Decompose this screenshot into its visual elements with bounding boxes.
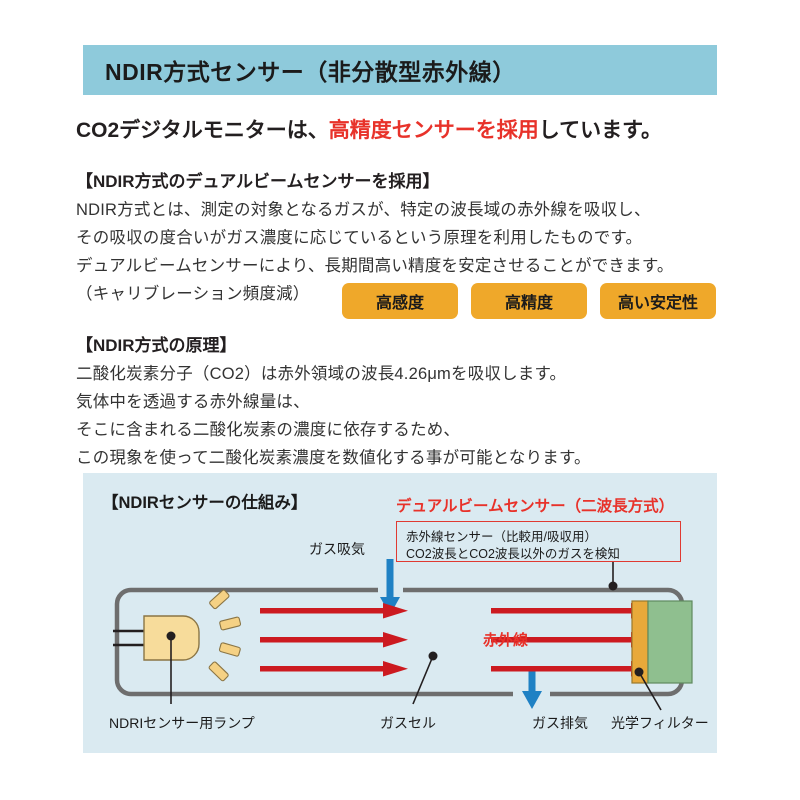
label-gas-cell: ガスセル: [380, 713, 436, 733]
lamp-icon: [113, 589, 241, 681]
header-bar: NDIR方式センサー（非分散型赤外線）: [83, 45, 717, 95]
ndir-sensor-schematic: [83, 473, 717, 753]
infrared-arrows-left: [260, 603, 408, 677]
lead-highlight: 高精度センサーを採用: [329, 119, 539, 142]
gas-exhaust-arrow: [522, 669, 542, 709]
body-text-line: デュアルビームセンサーにより、長期間高い精度を安定させることができます。: [76, 252, 674, 276]
page-title: NDIR方式センサー（非分散型赤外線）: [105, 53, 516, 87]
label-gas-exhaust: ガス排気: [532, 713, 588, 733]
section-heading-principle: 【NDIR方式の原理】: [76, 331, 237, 356]
body-text-line: この現象を使って二酸化炭素濃度を数値化する事が可能となります。: [76, 444, 591, 468]
body-text-line: 気体中を透過する赤外線量は、: [76, 388, 310, 412]
label-ndir-lamp: NDRIセンサー用ランプ: [109, 713, 255, 733]
page-root: NDIR方式センサー（非分散型赤外線） CO2デジタルモニターは、高精度センサー…: [0, 0, 800, 800]
lead-post: しています。: [539, 119, 662, 142]
body-text-line: NDIR方式とは、測定の対象となるガスが、特定の波長域の赤外線を吸収し、: [76, 196, 651, 220]
leader-lines: [167, 582, 662, 711]
body-text-line: その吸収の度合いがガス濃度に応じているという原理を利用したものです。: [76, 224, 642, 248]
lead-pre: CO2デジタルモニターは、: [76, 119, 329, 142]
feature-badge-high-sensitivity: 高感度: [342, 283, 458, 319]
label-infrared: 赤外線: [483, 629, 528, 650]
label-optical-filter: 光学フィルター: [611, 713, 709, 733]
label-gas-intake: ガス吸気: [309, 539, 365, 559]
diagram-panel: 【NDIRセンサーの仕組み】 デュアルビームセンサー（二波長方式） 赤外線センサ…: [83, 473, 717, 753]
detector-green-layer: [648, 601, 692, 683]
feature-badge-group: 高感度 高精度 高い安定性: [342, 283, 716, 319]
feature-badge-high-accuracy: 高精度: [471, 283, 587, 319]
body-text-line: そこに含まれる二酸化炭素の濃度に依存するため、: [76, 416, 460, 440]
feature-badge-high-stability: 高い安定性: [600, 283, 716, 319]
body-text-line: 二酸化炭素分子（CO2）は赤外領域の波長4.26μmを吸収します。: [76, 360, 566, 384]
section-heading-dual-beam: 【NDIR方式のデュアルビームセンサーを採用】: [76, 167, 440, 192]
lead-sentence: CO2デジタルモニターは、高精度センサーを採用しています。: [76, 114, 736, 144]
body-text-line: （キャリブレーション頻度減）: [76, 280, 309, 304]
